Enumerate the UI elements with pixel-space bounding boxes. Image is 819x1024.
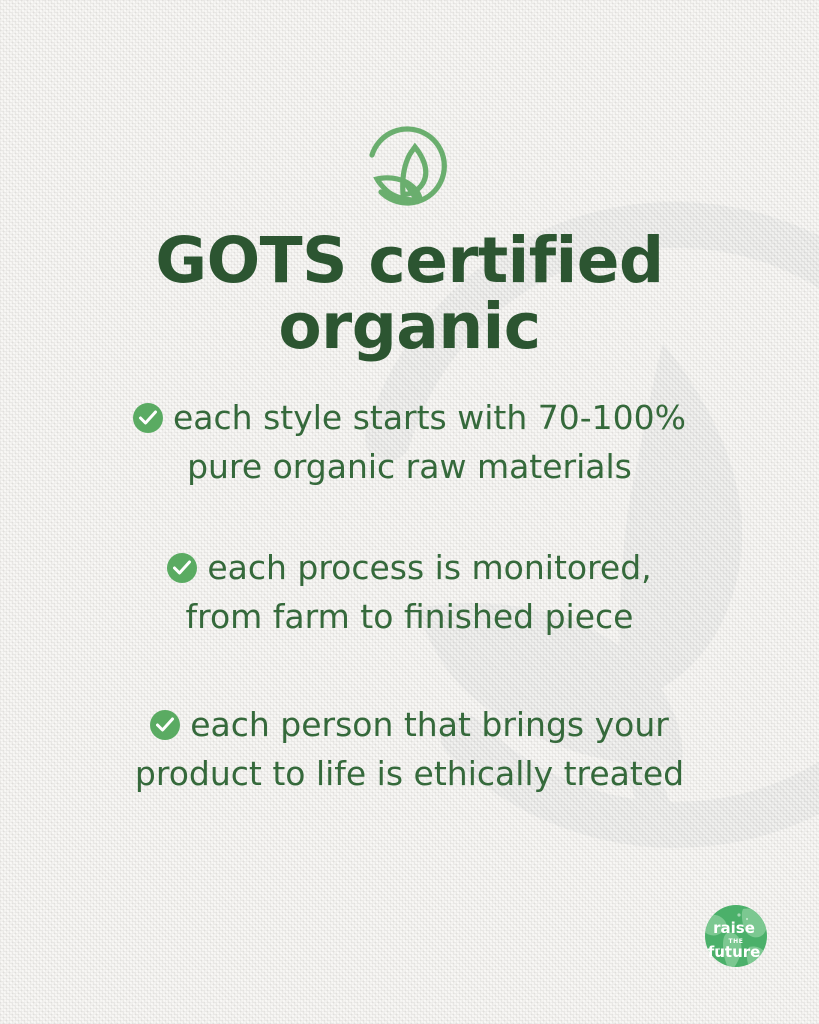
bullet-line-1: each process is monitored, xyxy=(167,543,651,592)
page-title: GOTS certified organic xyxy=(0,228,819,360)
list-item: each person that brings your product to … xyxy=(0,700,819,798)
check-circle-icon xyxy=(133,403,163,433)
bullet-text-1: each style starts with 70-100% xyxy=(173,398,686,437)
list-item: each style starts with 70-100% pure orga… xyxy=(0,393,819,491)
bullet-text-2: pure organic raw materials xyxy=(133,442,686,491)
list-item: each process is monitored, from farm to … xyxy=(0,543,819,641)
bullet-text-2: product to life is ethically treated xyxy=(135,749,684,798)
bullet-line-1: each person that brings your xyxy=(135,700,684,749)
bullet-text-2: from farm to finished piece xyxy=(167,592,651,641)
check-circle-icon xyxy=(167,553,197,583)
page-title-line-1: GOTS certified xyxy=(0,228,819,294)
bullet-content: each person that brings your product to … xyxy=(135,700,684,798)
poster-canvas: GOTS certified organic each style starts… xyxy=(0,0,819,1024)
leaf-in-circle-logo xyxy=(357,120,461,212)
bullet-list: each style starts with 70-100% pure orga… xyxy=(0,393,819,798)
bullet-content: each process is monitored, from farm to … xyxy=(167,543,651,641)
bullet-line-1: each style starts with 70-100% xyxy=(133,393,686,442)
bullet-text-1: each person that brings your xyxy=(190,705,669,744)
bullet-text-1: each process is monitored, xyxy=(207,548,651,587)
check-circle-icon xyxy=(150,710,180,740)
page-title-line-2: organic xyxy=(0,294,819,360)
bullet-content: each style starts with 70-100% pure orga… xyxy=(133,393,686,491)
brand-badge-line-3: future xyxy=(708,943,761,961)
raise-the-future-globe-logo[interactable]: raise THE future xyxy=(703,903,769,969)
brand-badge-line-1: raise xyxy=(713,919,755,937)
